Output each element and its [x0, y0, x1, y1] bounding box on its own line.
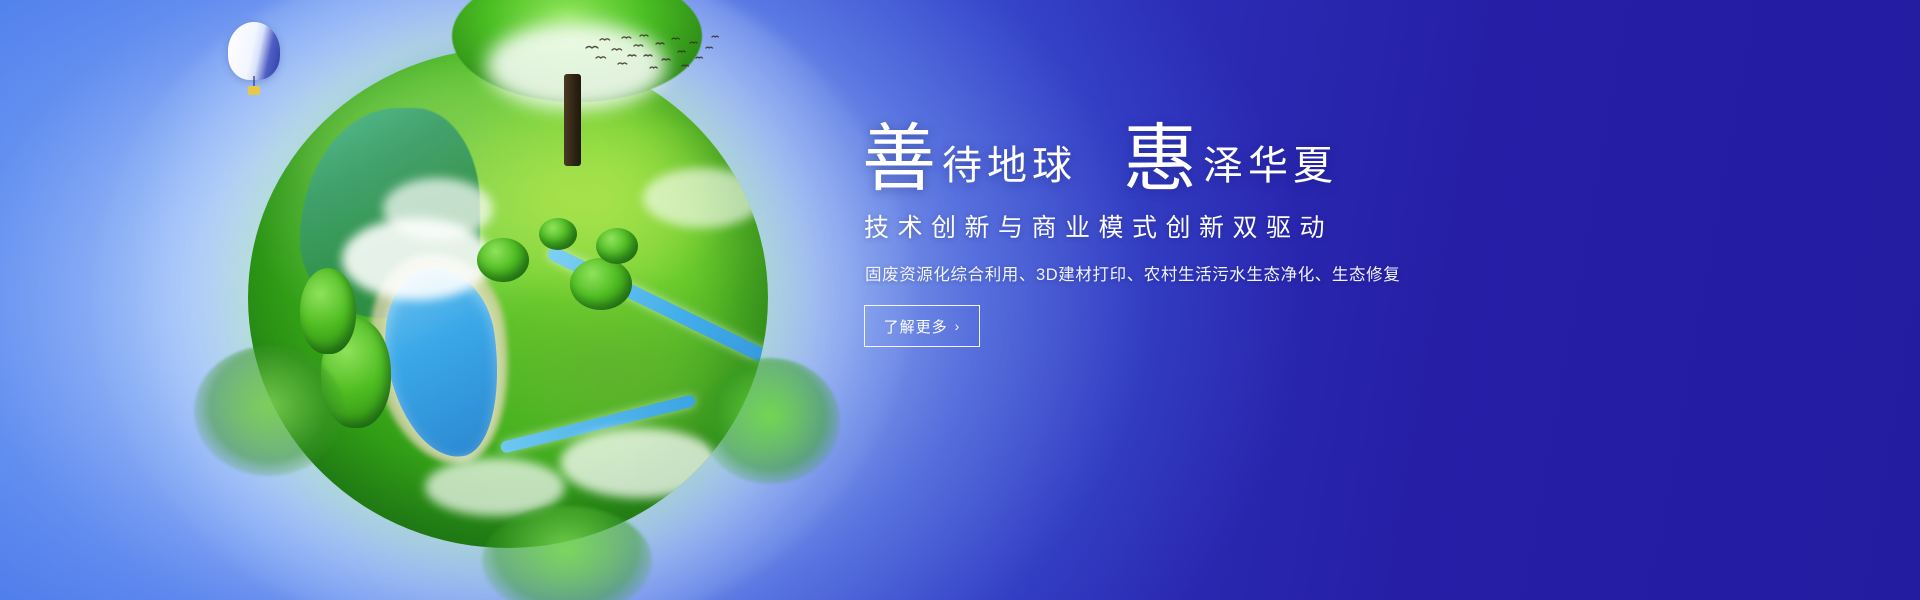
learn-more-label: 了解更多 [884, 316, 948, 337]
headline-text-1: 待地球 [936, 146, 1077, 194]
bush-icon [539, 218, 577, 250]
page-title: 善 待地球 惠 泽华夏 [862, 126, 1562, 194]
forest-edge [300, 268, 356, 354]
banner-description: 固废资源化综合利用、3D建材打印、农村生活污水生态净化、生态修复 [865, 261, 1562, 285]
chevron-right-icon: › [955, 319, 961, 333]
tree-icon [700, 358, 840, 484]
globe-illustration [152, 0, 852, 600]
balloon-basket [248, 86, 260, 95]
tree-icon [194, 346, 344, 476]
banner-content: 善 待地球 惠 泽华夏 技术创新与商业模式创新双驱动 固废资源化综合利用、3D建… [862, 126, 1562, 347]
hot-air-balloon-icon [228, 22, 280, 96]
bird-flock-icon [582, 34, 722, 78]
bush-icon [570, 258, 632, 310]
headline-char-2: 惠 [1123, 126, 1197, 194]
headline-text-2: 泽华夏 [1197, 146, 1338, 194]
hero-banner: 善 待地球 惠 泽华夏 技术创新与商业模式创新双驱动 固废资源化综合利用、3D建… [0, 0, 1920, 600]
headline-char-1: 善 [862, 126, 936, 194]
learn-more-button[interactable]: 了解更多 › [864, 305, 980, 347]
bush-icon [477, 238, 529, 282]
cloud-icon [643, 168, 763, 228]
balloon-envelope [228, 22, 280, 80]
cloud-icon [560, 428, 720, 498]
tree-trunk [564, 74, 581, 166]
banner-subtitle: 技术创新与商业模式创新双驱动 [864, 208, 1562, 244]
cloud-icon [383, 178, 493, 240]
